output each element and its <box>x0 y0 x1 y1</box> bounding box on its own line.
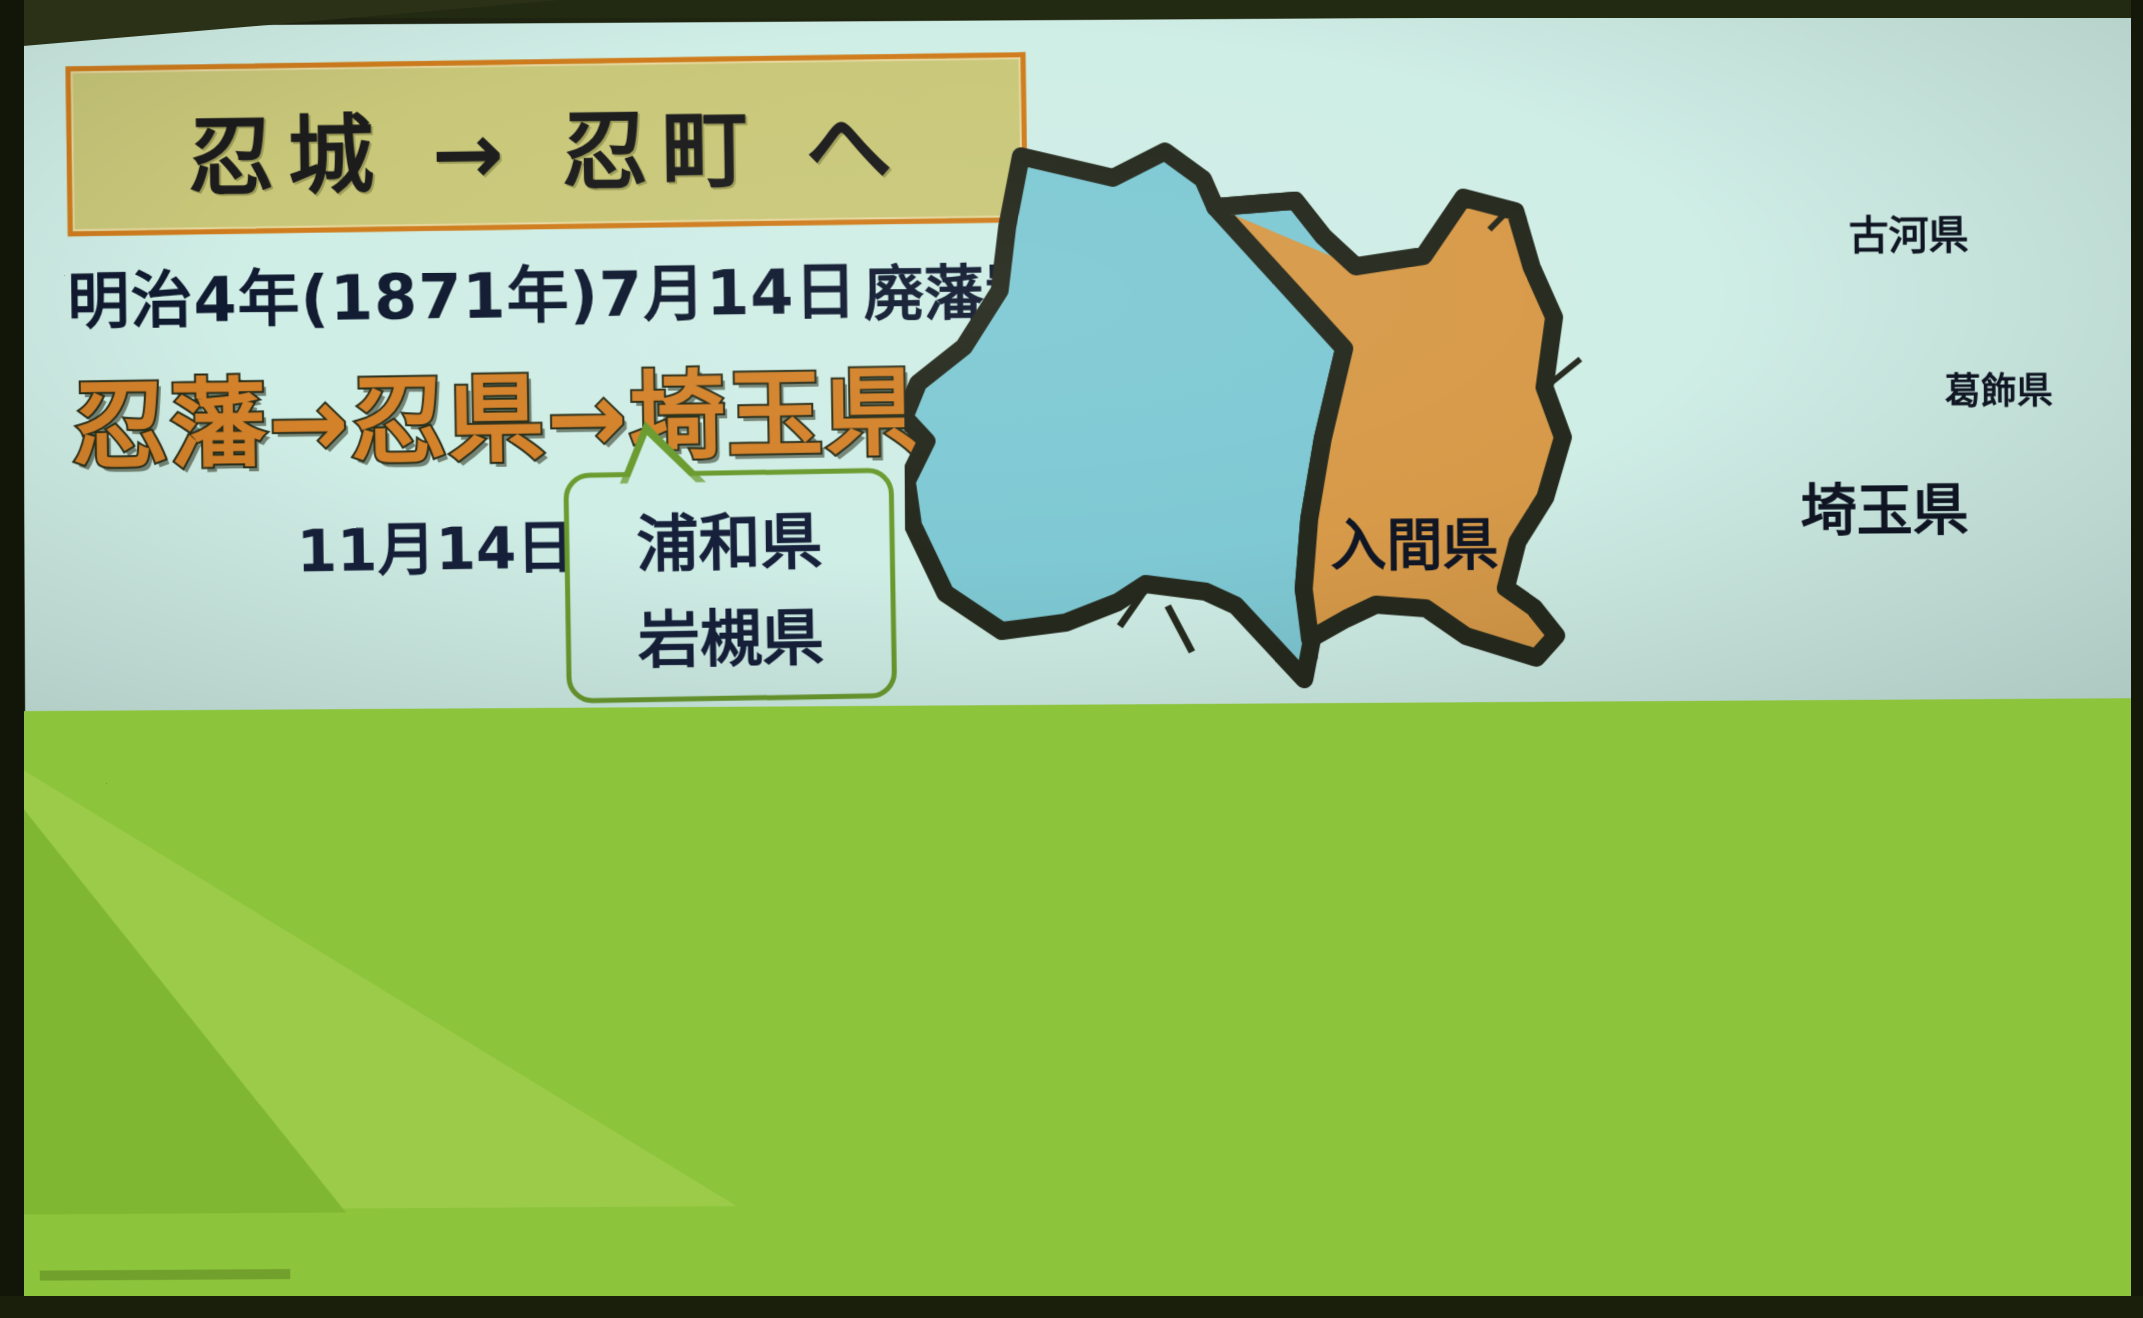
callout-line-2: 岩槻県 <box>637 587 825 680</box>
slide-footer-band <box>3 698 2143 1313</box>
projection-screen: 忍城 → 忍町 へ 明治4年(1871年)7月14日 廃藩置県 忍藩→忍県→埼玉… <box>0 7 2143 1313</box>
footer-triangle-dark <box>3 731 346 1215</box>
slide-content-area: 忍城 → 忍町 へ 明治4年(1871年)7月14日 廃藩置県 忍藩→忍県→埼玉… <box>22 14 2137 718</box>
callout-line-1: 浦和県 <box>636 491 824 584</box>
prefecture-callout-box: 浦和県 岩槻県 <box>563 468 897 704</box>
region-iruma-shape <box>903 150 1359 681</box>
meiji-date-line: 明治4年(1871年)7月14日 <box>67 241 858 341</box>
november-date-line: 11月14日 <box>296 500 575 588</box>
frame-left-edge <box>0 0 24 1318</box>
callout-text-group: 浦和県 岩槻県 <box>568 473 892 699</box>
title-text: 忍城 → 忍町 へ <box>71 57 1023 231</box>
title-box: 忍城 → 忍町 へ <box>66 52 1028 236</box>
frame-bottom-edge <box>0 1296 2143 1318</box>
han-to-ken-headline: 忍藩→忍県→埼玉県 <box>71 335 924 488</box>
callout-tail-fill <box>625 434 700 487</box>
map-label-katsushika: 葛飾県 <box>1945 362 2053 415</box>
map-label-saitama: 埼玉県 <box>1800 465 1969 547</box>
footer-accent-bar <box>40 1269 291 1281</box>
map-label-iruma: 入間県 <box>1330 500 1499 582</box>
projected-slide-photo: 忍城 → 忍町 へ 明治4年(1871年)7月14日 廃藩置県 忍藩→忍県→埼玉… <box>0 0 2143 1318</box>
leader-line-kawagoe <box>1168 606 1192 652</box>
map-label-koga: 古河県 <box>1848 203 1968 262</box>
frame-right-edge <box>2131 0 2143 1318</box>
